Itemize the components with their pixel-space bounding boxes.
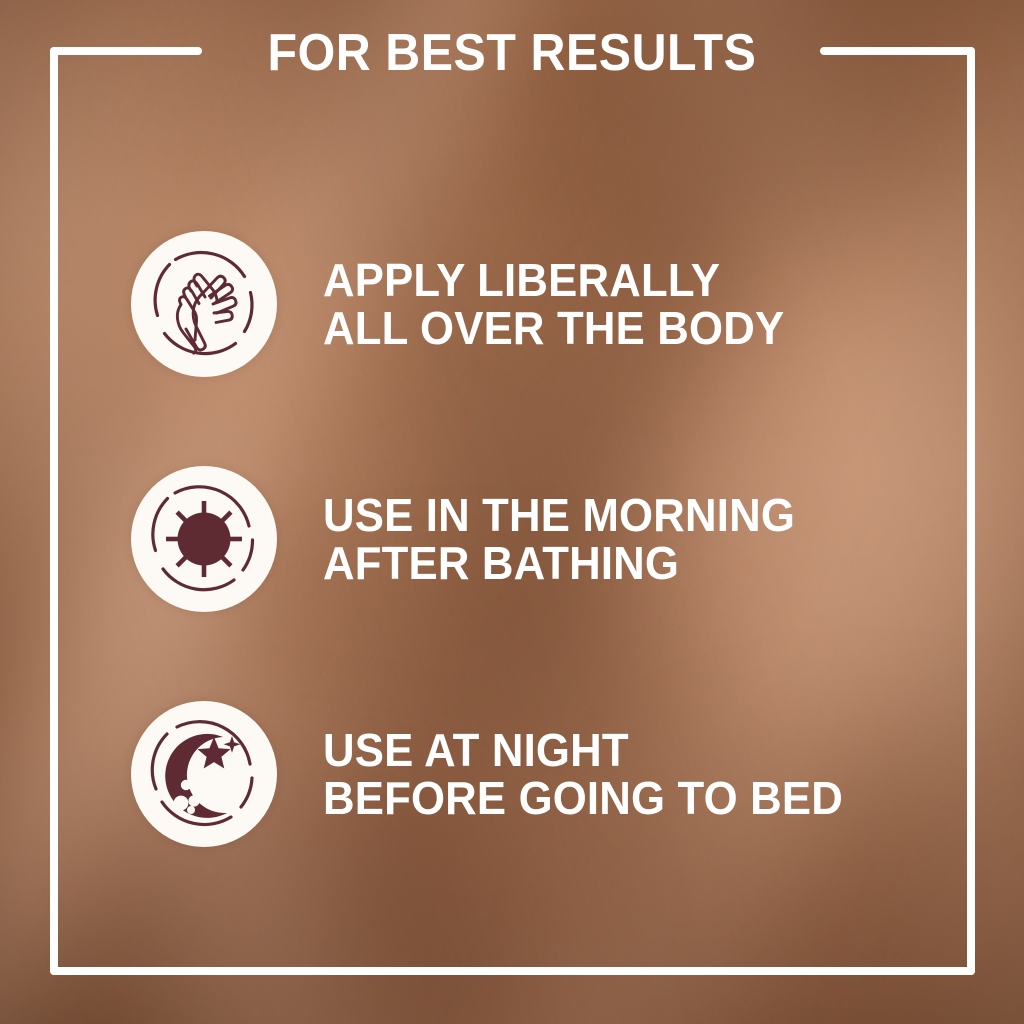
page-title: FOR BEST RESULTS (36, 22, 988, 84)
step-icon-badge (131, 701, 277, 847)
hands-applying-lotion-icon (131, 231, 277, 377)
for-best-results-panel: FOR BEST RESULTS (0, 0, 1024, 1024)
list-item: USE AT NIGHT BEFORE GOING TO BED (0, 656, 1024, 891)
step-icon-badge (131, 466, 277, 612)
instructions-list: APPLY LIBERALLY ALL OVER THE BODY (0, 186, 1024, 891)
step-label: APPLY LIBERALLY ALL OVER THE BODY (323, 256, 784, 352)
step-label-line-1: USE AT NIGHT (323, 726, 843, 774)
step-label-line-2: AFTER BATHING (323, 539, 795, 587)
step-label-line-1: USE IN THE MORNING (323, 491, 795, 539)
sun-icon (131, 466, 277, 612)
step-label-line-2: BEFORE GOING TO BED (323, 774, 843, 822)
crescent-moon-stars-icon (131, 701, 277, 847)
step-label: USE IN THE MORNING AFTER BATHING (323, 491, 795, 587)
step-label-line-1: APPLY LIBERALLY (323, 256, 784, 304)
list-item: USE IN THE MORNING AFTER BATHING (0, 421, 1024, 656)
step-label-line-2: ALL OVER THE BODY (323, 304, 784, 352)
list-item: APPLY LIBERALLY ALL OVER THE BODY (0, 186, 1024, 421)
step-label: USE AT NIGHT BEFORE GOING TO BED (323, 726, 843, 822)
step-icon-badge (131, 231, 277, 377)
